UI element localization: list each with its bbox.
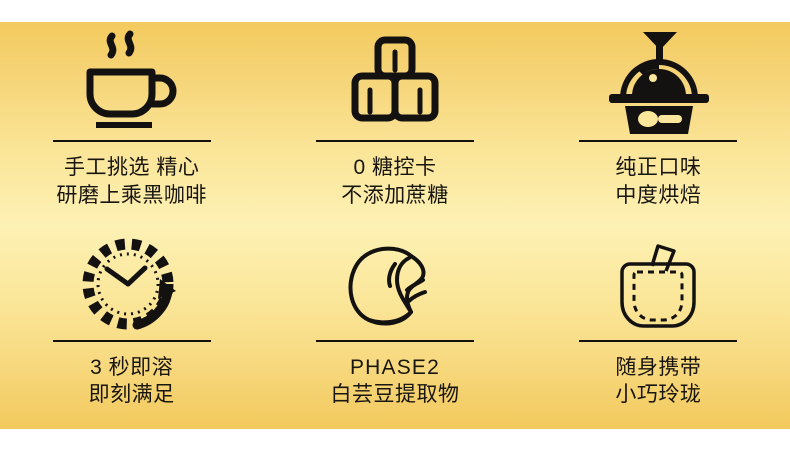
caption-line-1: 手工挑选 精心 [56, 154, 207, 182]
caption-line-2: 小巧玲珑 [615, 381, 701, 409]
cell-divider [579, 140, 737, 142]
feature-caption: 随身携带 小巧玲珑 [615, 354, 701, 409]
cell-divider [53, 140, 211, 142]
coffee-grinder-icon [603, 28, 713, 136]
sugar-cubes-icon [340, 28, 450, 136]
caption-line-2: 研磨上乘黑咖啡 [56, 182, 207, 210]
caption-line-1: 0 糖控卡 [341, 154, 449, 182]
cell-divider [579, 340, 737, 342]
feature-caption: 手工挑选 精心 研磨上乘黑咖啡 [56, 154, 207, 209]
feature-caption: 0 糖控卡 不添加蔗糖 [341, 154, 449, 209]
feature-cell-portable-pouch: 随身携带 小巧玲珑 [527, 226, 790, 430]
feature-cell-instant-dissolve: 3 秒即溶 即刻满足 [0, 226, 263, 430]
feature-caption: 3 秒即溶 即刻满足 [89, 354, 175, 409]
caption-line-1: PHASE2 [330, 354, 459, 382]
feature-cell-white-bean-extract: PHASE2 白芸豆提取物 [263, 226, 526, 430]
caption-line-2: 白芸豆提取物 [330, 381, 459, 409]
caption-line-2: 中度烘焙 [615, 182, 701, 210]
caption-line-1: 3 秒即溶 [89, 354, 175, 382]
feature-cell-sugar-cubes: 0 糖控卡 不添加蔗糖 [263, 22, 526, 226]
coffee-cup-icon [72, 28, 192, 136]
feature-caption: 纯正口味 中度烘焙 [615, 154, 701, 209]
caption-line-1: 纯正口味 [615, 154, 701, 182]
feature-cell-coffee-grinder: 纯正口味 中度烘焙 [527, 22, 790, 226]
feature-cell-coffee-cup: 手工挑选 精心 研磨上乘黑咖啡 [0, 22, 263, 226]
feature-caption: PHASE2 白芸豆提取物 [330, 354, 459, 409]
kidney-bean-icon [339, 236, 451, 336]
cell-divider [316, 340, 474, 342]
cell-divider [53, 340, 211, 342]
caption-line-1: 随身携带 [615, 354, 701, 382]
feature-banner: 手工挑选 精心 研磨上乘黑咖啡 [0, 22, 790, 429]
caption-line-2: 不添加蔗糖 [341, 182, 449, 210]
clock-arrow-icon [80, 236, 184, 336]
cell-divider [316, 140, 474, 142]
pouch-pocket-icon [606, 236, 710, 336]
caption-line-2: 即刻满足 [89, 381, 175, 409]
feature-grid: 手工挑选 精心 研磨上乘黑咖啡 [0, 22, 790, 429]
